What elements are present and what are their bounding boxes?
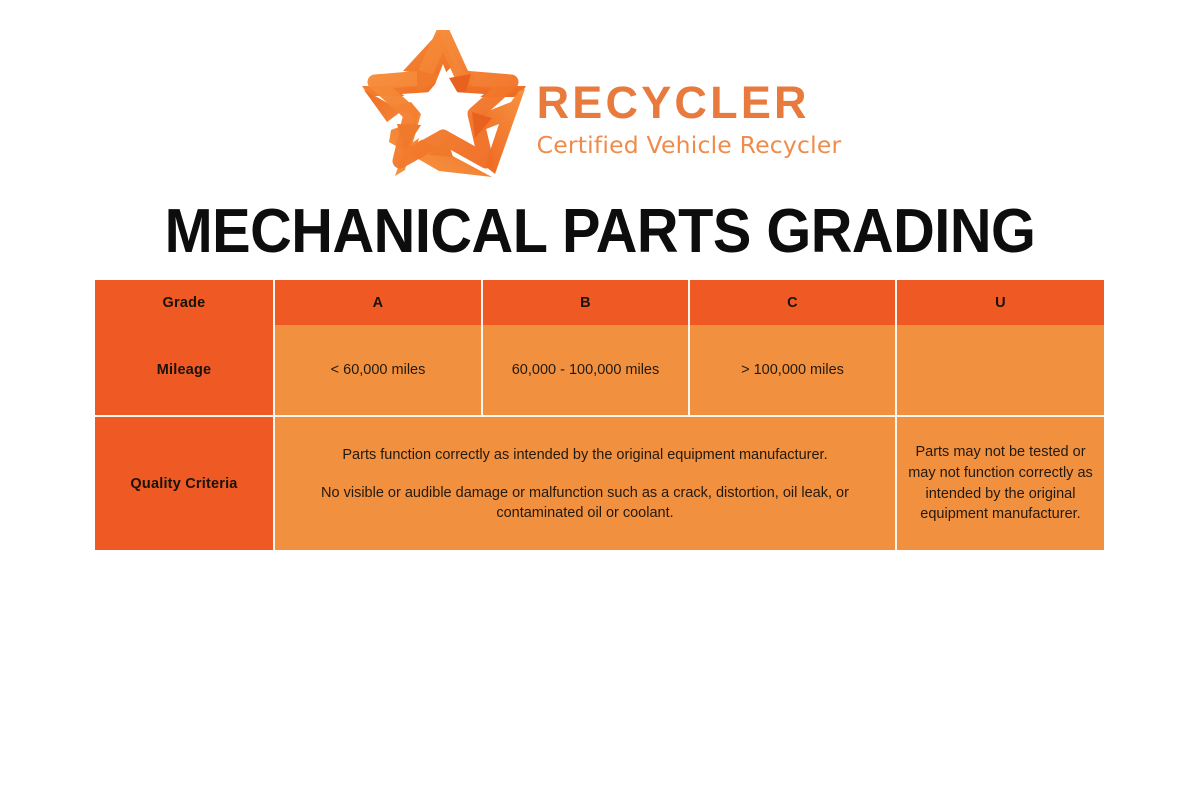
brand-logo: RECYCLER Certified Vehicle Recycler [0, 28, 1200, 183]
column-header-grade: Grade [95, 280, 275, 325]
cell-mileage-b: 60,000 - 100,000 miles [483, 325, 690, 417]
table-row-mileage: Mileage < 60,000 miles 60,000 - 100,000 … [95, 325, 1104, 417]
logo-name: RECYCLER [537, 80, 810, 125]
cell-mileage-a: < 60,000 miles [275, 325, 483, 417]
logo-wordmark: RECYCLER Certified Vehicle Recycler [537, 30, 842, 182]
recycling-star-logo-icon [359, 30, 529, 182]
cell-mileage-c: > 100,000 miles [690, 325, 897, 417]
row-label-quality-criteria: Quality Criteria [95, 417, 275, 550]
page-title: MECHANICAL PARTS GRADING [42, 196, 1158, 268]
column-header-b: B [483, 280, 690, 325]
mechanical-parts-grading-table: Grade A B C U Mileage < 60,000 miles 60,… [95, 280, 1104, 550]
column-header-c: C [690, 280, 897, 325]
logo-tagline: Certified Vehicle Recycler [537, 134, 842, 158]
table-header-row: Grade A B C U [95, 280, 1104, 325]
quality-criteria-u-text: Parts may not be tested or may not funct… [897, 442, 1104, 524]
quality-criteria-paragraph-2: No visible or audible damage or malfunct… [275, 483, 895, 523]
column-header-u: U [897, 280, 1104, 325]
cell-quality-criteria-abc: Parts function correctly as intended by … [275, 417, 897, 550]
row-label-mileage: Mileage [95, 325, 275, 417]
cell-quality-criteria-u: Parts may not be tested or may not funct… [897, 417, 1104, 550]
cell-mileage-u [897, 325, 1104, 417]
table-row-quality-criteria: Quality Criteria Parts function correctl… [95, 417, 1104, 550]
quality-criteria-paragraph-1: Parts function correctly as intended by … [275, 445, 895, 465]
column-header-a: A [275, 280, 483, 325]
